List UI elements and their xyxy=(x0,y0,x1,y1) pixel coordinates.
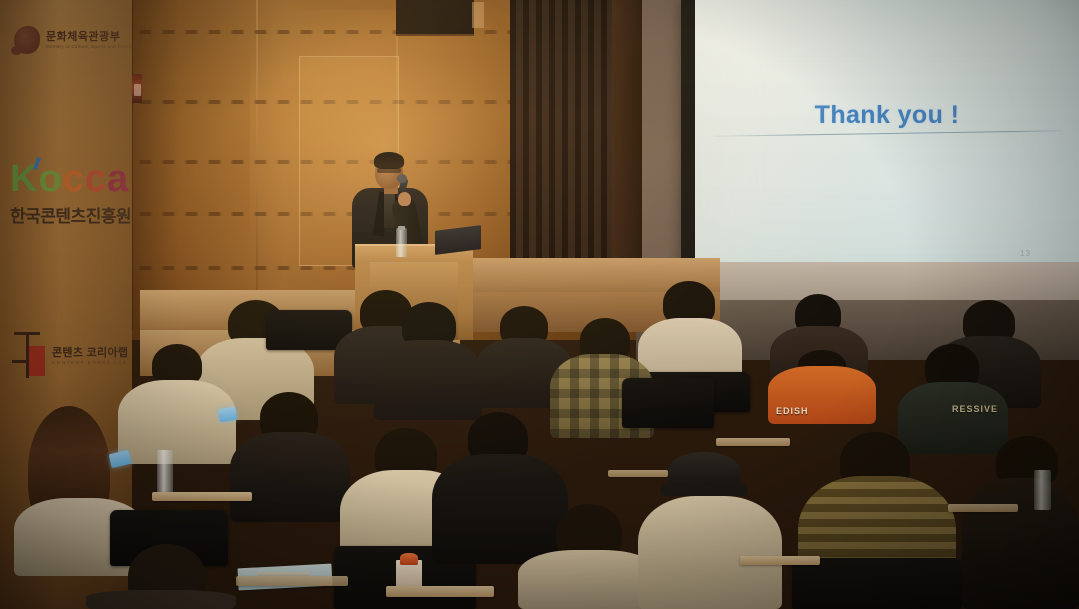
mcst-emblem-dot-icon xyxy=(11,46,22,55)
speaker-hair xyxy=(374,152,404,169)
tablet-desk xyxy=(236,576,348,586)
smartphone-screen xyxy=(218,407,237,422)
ckl-mark-top-bar-icon xyxy=(14,332,40,335)
fire-alarm-glass xyxy=(134,84,141,96)
kocca-logo: Kocca 한국콘텐츠진흥원 xyxy=(8,158,126,230)
podium-bottle-cap xyxy=(398,226,405,230)
photo-scene: 문화체육관광부 Ministry of Culture, Sports and … xyxy=(0,0,1079,609)
water-bottle xyxy=(157,450,173,496)
tablet-desk xyxy=(740,556,820,565)
slide-page-number: 13 xyxy=(1020,249,1031,258)
water-bottle xyxy=(1034,470,1051,510)
jacket-text-ressive: RESSIVE xyxy=(952,404,998,414)
cup-contents xyxy=(400,553,418,565)
tablet-desk xyxy=(386,586,494,597)
mcst-english-name: Ministry of Culture, Sports and Tourism xyxy=(46,44,135,49)
tablet-desk xyxy=(152,492,252,501)
tablet-desk xyxy=(716,438,790,446)
content-korea-lab-logo: 콘텐츠 코리아랩 CONTENT KOREA LAB xyxy=(10,330,128,390)
chair-back xyxy=(792,558,962,609)
cap-brim-icon xyxy=(660,484,748,496)
ckl-english-name: CONTENT KOREA LAB xyxy=(52,360,127,365)
kocca-letter-c2: c xyxy=(85,158,107,200)
podium-water-bottle xyxy=(396,228,407,257)
ceiling-speaker-panel xyxy=(396,0,474,36)
ministry-culture-sports-tourism-logo: 문화체육관광부 Ministry of Culture, Sports and … xyxy=(8,22,126,68)
jacket-text-edish: EDISH xyxy=(776,406,809,416)
stage-curtain-edge xyxy=(612,0,642,286)
kocca-wordmark: Kocca xyxy=(10,158,129,200)
ckl-mark-red-block-icon xyxy=(29,346,45,376)
kocca-letter-o: o xyxy=(38,158,62,200)
microphone-head-icon xyxy=(397,174,407,183)
ckl-korean-name: 콘텐츠 코리아랩 xyxy=(52,344,128,360)
speaker-hand xyxy=(398,192,411,206)
mcst-korean-name: 문화체육관광부 xyxy=(46,28,120,44)
slide-thank-you-text: Thank you ! xyxy=(695,101,1079,130)
kocca-korean-name: 한국콘텐츠진흥원 xyxy=(10,202,131,227)
kocca-letter-a: a xyxy=(107,158,129,200)
ceiling-bracket xyxy=(472,2,484,28)
tablet-desk xyxy=(608,470,668,477)
tablet-desk xyxy=(948,504,1018,512)
speaker-glasses-icon xyxy=(377,168,401,173)
kocca-letter-c1: c xyxy=(63,158,85,200)
chair-back xyxy=(622,378,714,428)
